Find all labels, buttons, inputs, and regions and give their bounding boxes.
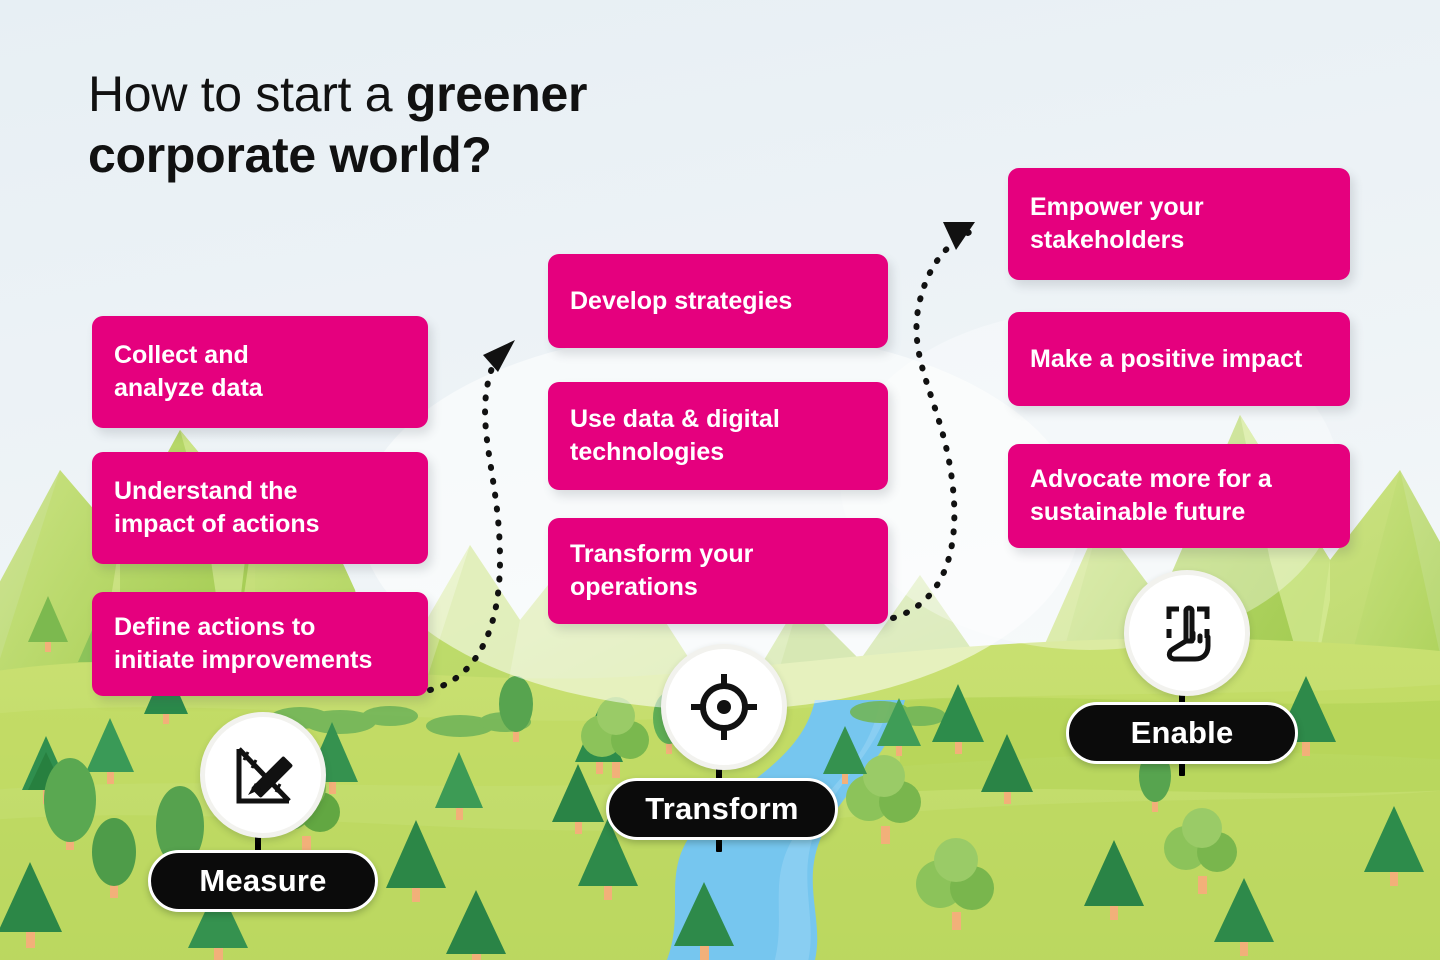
card-line-2: operations	[570, 571, 753, 604]
card-advocate-more-for-a-sustainable-future[interactable]: Advocate more for a sustainable future	[1008, 444, 1350, 548]
page-title: How to start a greener corporate world?	[88, 64, 808, 186]
card-line-1: Use data & digital	[570, 403, 780, 436]
title-line-1-bold: greener	[406, 66, 587, 122]
marker-label-transform[interactable]: Transform	[606, 778, 838, 840]
card-use-data-and-digital-technologies[interactable]: Use data & digital technologies	[548, 382, 888, 490]
card-line-2: sustainable future	[1030, 496, 1272, 529]
card-line-2: technologies	[570, 436, 780, 469]
marker-label-measure[interactable]: Measure	[148, 850, 378, 912]
card-line-2: impact of actions	[114, 508, 320, 541]
card-develop-strategies[interactable]: Develop strategies	[548, 254, 888, 348]
marker-label-text: Measure	[199, 863, 326, 899]
marker-label-enable[interactable]: Enable	[1066, 702, 1298, 764]
card-line-2: stakeholders	[1030, 224, 1204, 257]
marker-label-text: Transform	[645, 791, 798, 827]
touch-hand-scan-icon	[1124, 570, 1250, 696]
title-line-1-regular: How to start a	[88, 66, 406, 122]
ruler-pencil-icon	[200, 712, 326, 838]
card-transform-your-operations[interactable]: Transform your operations	[548, 518, 888, 624]
card-line-1: Make a positive impact	[1030, 343, 1302, 376]
card-make-a-positive-impact[interactable]: Make a positive impact	[1008, 312, 1350, 406]
card-line-1: Collect and	[114, 339, 263, 372]
marker-label-text: Enable	[1131, 715, 1234, 751]
card-collect-and-analyze-data[interactable]: Collect and analyze data	[92, 316, 428, 428]
card-line-1: Define actions to	[114, 611, 372, 644]
card-line-1: Transform your	[570, 538, 753, 571]
card-line-1: Develop strategies	[570, 285, 792, 318]
card-line-1: Advocate more for a	[1030, 463, 1272, 496]
card-line-2: analyze data	[114, 372, 263, 405]
title-line-2-bold: corporate world?	[88, 127, 492, 183]
crosshair-target-icon	[661, 644, 787, 770]
card-line-1: Understand the	[114, 475, 320, 508]
card-empower-your-stakeholders[interactable]: Empower your stakeholders	[1008, 168, 1350, 280]
card-line-2: initiate improvements	[114, 644, 372, 677]
card-define-actions-to-initiate-improvements[interactable]: Define actions to initiate improvements	[92, 592, 428, 696]
card-understand-the-impact-of-actions[interactable]: Understand the impact of actions	[92, 452, 428, 564]
infographic-canvas: How to start a greener corporate world? …	[0, 0, 1440, 960]
card-line-1: Empower your	[1030, 191, 1204, 224]
